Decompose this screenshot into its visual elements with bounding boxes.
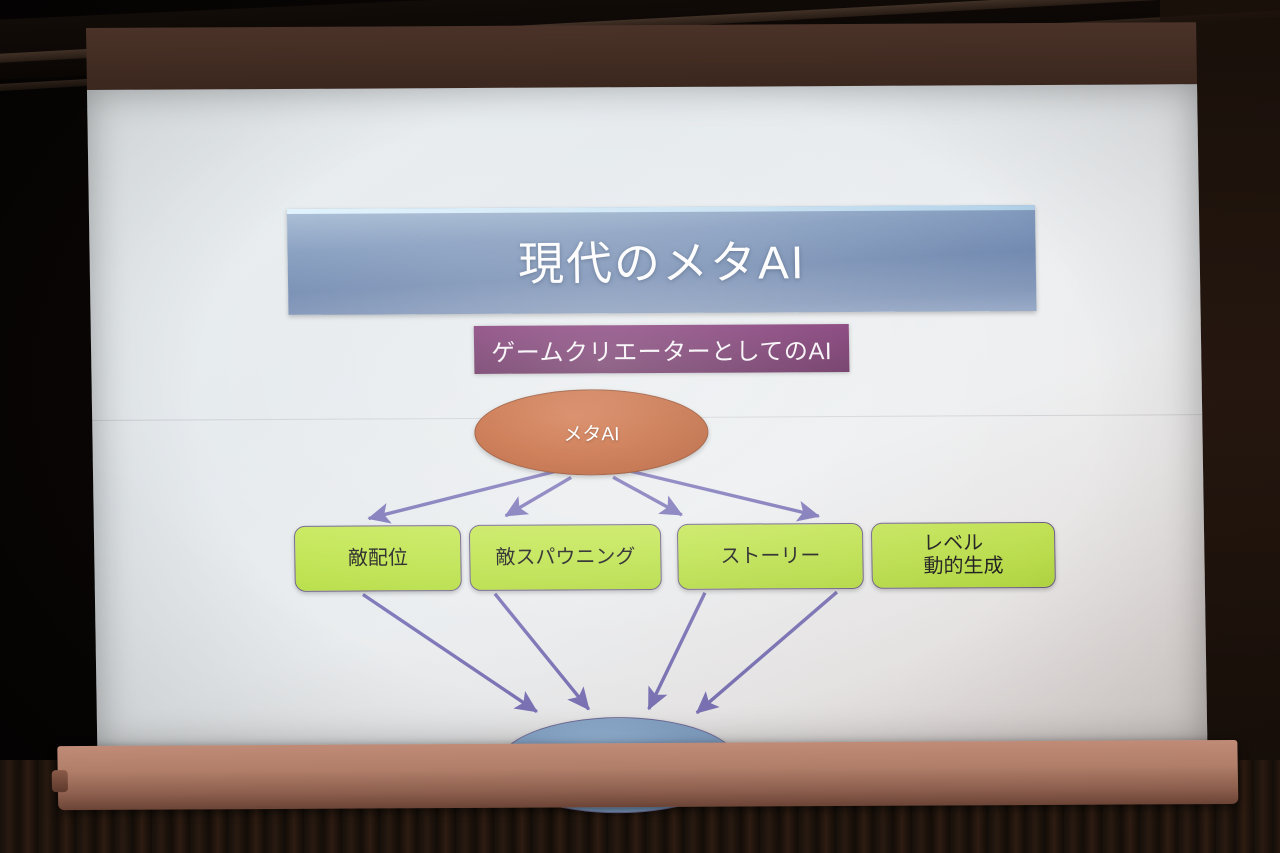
screen-top-band bbox=[86, 22, 1197, 90]
node-enemy-spawning-label: 敵スパウニング bbox=[495, 546, 635, 570]
node-level-generation[interactable]: レベル 動的生成 bbox=[871, 522, 1056, 589]
conference-room-photo: 現代のメタAI ゲームクリエーターとしてのAI bbox=[0, 0, 1280, 853]
node-level-generation-line1: レベル bbox=[923, 532, 983, 554]
presentation-slide: 現代のメタAI ゲームクリエーターとしてのAI bbox=[88, 146, 1208, 812]
diagram-arrows bbox=[88, 146, 1208, 812]
projection-screen: 現代のメタAI ゲームクリエーターとしてのAI bbox=[86, 22, 1208, 818]
node-level-generation-label: レベル 動的生成 bbox=[923, 532, 1004, 578]
node-enemy-placement[interactable]: 敵配位 bbox=[294, 525, 462, 592]
edge-meta-to-level-generation bbox=[630, 470, 819, 517]
node-enemy-placement-label: 敵配位 bbox=[348, 547, 408, 570]
edge-level-generation-to-user bbox=[695, 592, 839, 713]
screen-roller-bar bbox=[57, 740, 1238, 810]
screen-surface: 現代のメタAI ゲームクリエーターとしてのAI bbox=[87, 84, 1207, 750]
diagram-canvas bbox=[88, 146, 1208, 812]
node-story-label: ストーリー bbox=[720, 545, 820, 569]
edge-meta-to-enemy-placement bbox=[368, 472, 556, 519]
node-level-generation-line2: 動的生成 bbox=[923, 555, 1003, 577]
node-enemy-spawning[interactable]: 敵スパウニング bbox=[469, 524, 662, 591]
screen-roller-cap bbox=[52, 770, 68, 792]
edge-story-to-user bbox=[647, 593, 707, 709]
node-story[interactable]: ストーリー bbox=[677, 523, 864, 590]
